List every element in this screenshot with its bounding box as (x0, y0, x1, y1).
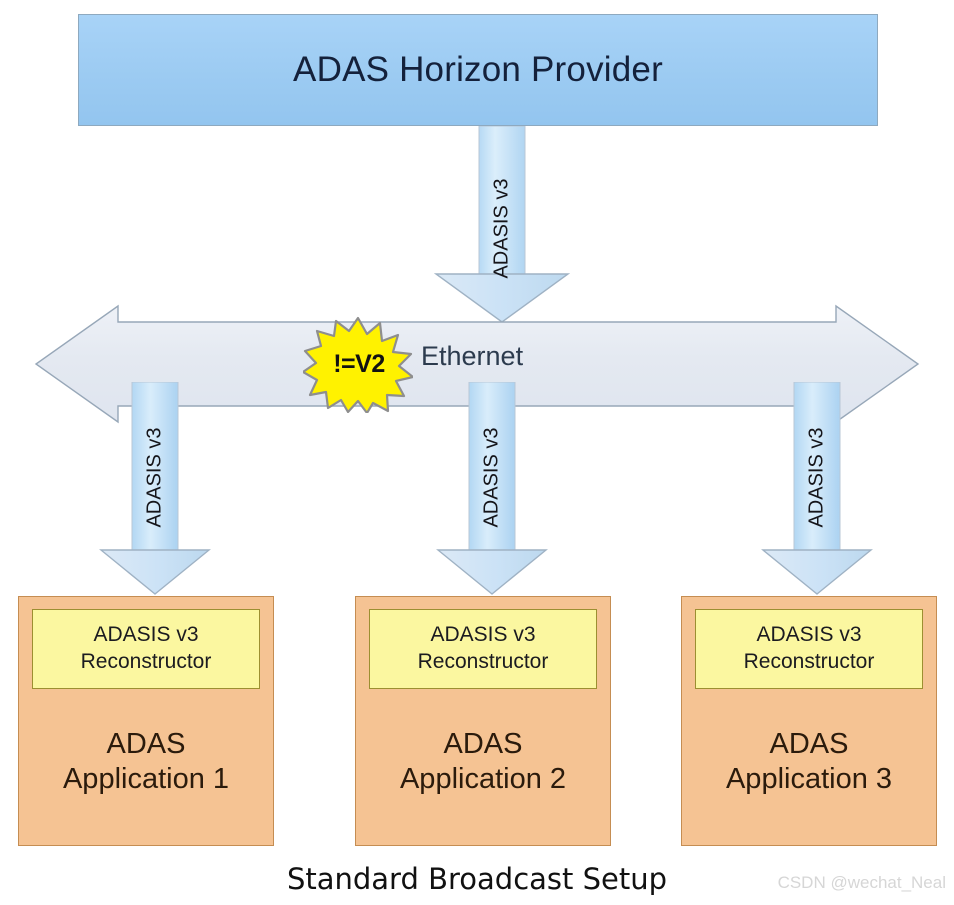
flow-label-bus-to-app-1: ADASIS v3 (144, 422, 167, 534)
application-title-line-1: ADAS (726, 727, 892, 762)
adas-application-box-1: ADASIS v3 Reconstructor ADAS Application… (18, 596, 274, 846)
application-title-1: ADAS Application 1 (63, 727, 229, 797)
application-title-line-2: Application 1 (63, 762, 229, 797)
application-title-line-2: Application 2 (400, 762, 566, 797)
application-title-line-1: ADAS (63, 727, 229, 762)
reconstructor-line-1: ADASIS v3 (93, 622, 198, 649)
provider-label: ADAS Horizon Provider (293, 50, 663, 90)
application-title-2: ADAS Application 2 (400, 727, 566, 797)
version-mismatch-label: !=V2 (303, 316, 413, 413)
reconstructor-line-2: Reconstructor (744, 649, 875, 676)
reconstructor-line-2: Reconstructor (81, 649, 212, 676)
adasis-reconstructor-box-2: ADASIS v3 Reconstructor (369, 609, 597, 689)
adas-application-box-2: ADASIS v3 Reconstructor ADAS Application… (355, 596, 611, 846)
watermark: CSDN @wechat_Neal (778, 873, 946, 893)
adas-horizon-provider-box: ADAS Horizon Provider (78, 14, 878, 126)
flow-label-provider-to-bus: ADASIS v3 (491, 161, 514, 297)
flow-label-bus-to-app-2: ADASIS v3 (481, 422, 504, 534)
reconstructor-line-1: ADASIS v3 (430, 622, 535, 649)
ethernet-bus-label: Ethernet (421, 341, 523, 372)
flow-label-bus-to-app-3: ADASIS v3 (806, 422, 829, 534)
diagram-canvas: ADAS Horizon Provider ADASIS v3 (0, 0, 954, 905)
reconstructor-line-2: Reconstructor (418, 649, 549, 676)
application-title-line-2: Application 3 (726, 762, 892, 797)
adasis-reconstructor-box-3: ADASIS v3 Reconstructor (695, 609, 923, 689)
application-title-3: ADAS Application 3 (726, 727, 892, 797)
application-title-line-1: ADAS (400, 727, 566, 762)
adas-application-box-3: ADASIS v3 Reconstructor ADAS Application… (681, 596, 937, 846)
reconstructor-line-1: ADASIS v3 (756, 622, 861, 649)
adasis-reconstructor-box-1: ADASIS v3 Reconstructor (32, 609, 260, 689)
